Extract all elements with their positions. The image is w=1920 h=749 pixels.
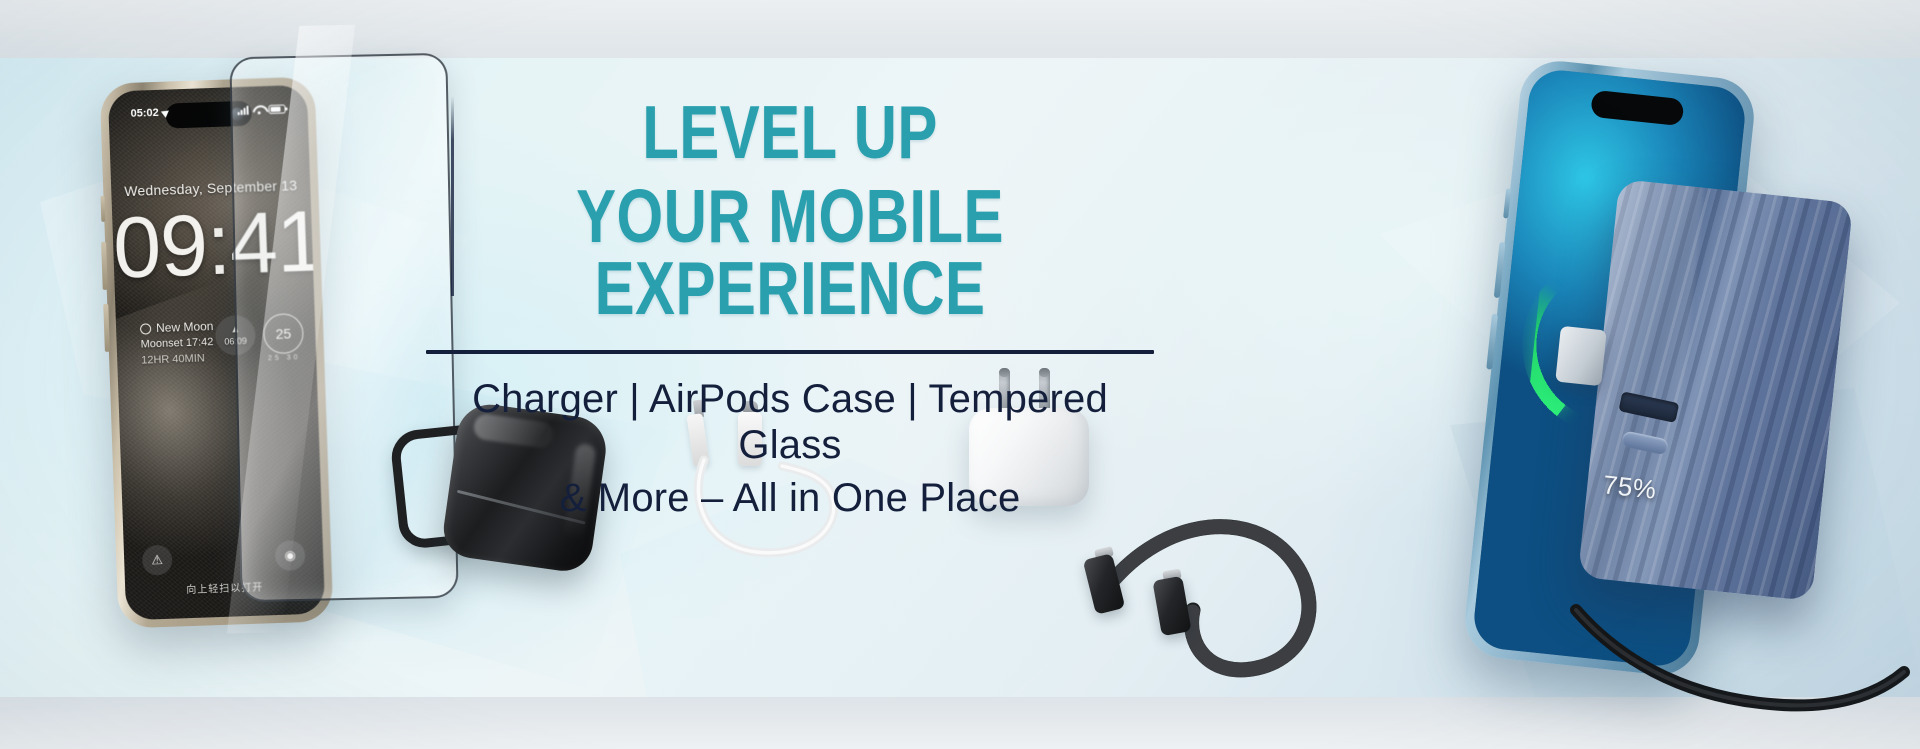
dynamic-island [1590, 90, 1684, 126]
location-arrow-icon [161, 107, 171, 118]
headline-line-2: YOUR MOBILE EXPERIENCE [494, 180, 1086, 324]
charging-cable [1560, 600, 1920, 749]
moon-widget-duration: 12HR 40MIN [141, 351, 215, 369]
subtitle-line-1: Charger | AirPods Case | Tempered Glass [420, 376, 1160, 469]
subtitle-line-2: & More – All in One Place [420, 475, 1160, 521]
mute-button [100, 196, 105, 222]
status-time: 05:02 [130, 107, 159, 120]
status-bar-left: 05:02 [130, 106, 170, 119]
headline: LEVEL UP YOUR MOBILE EXPERIENCE [420, 96, 1160, 324]
volume-up-button [1494, 242, 1506, 298]
moon-widget-title: New Moon [156, 318, 214, 337]
mute-button [1503, 188, 1511, 218]
power-bank-device [1578, 179, 1854, 601]
subtitle: Charger | AirPods Case | Tempered Glass … [420, 376, 1160, 521]
moon-phase-icon [140, 323, 151, 334]
banner-text-block: LEVEL UP YOUR MOBILE EXPERIENCE Charger … [420, 96, 1160, 521]
battery-percentage-label: 75% [1602, 469, 1658, 505]
headline-rule [426, 350, 1154, 354]
left-product-group: 05:02 Wednesday, September 13 09:41 New … [95, 55, 445, 645]
promo-banner: 05:02 Wednesday, September 13 09:41 New … [0, 0, 1920, 749]
volume-down-button [1486, 313, 1498, 369]
power-bank-connector [1555, 326, 1607, 387]
volume-up-button [101, 242, 108, 290]
banner-top-band [0, 0, 1920, 60]
moon-widget[interactable]: New Moon Moonset 17:42 12HR 40MIN [140, 318, 215, 369]
volume-down-button [103, 304, 110, 352]
headline-line-1: LEVEL UP [494, 96, 1086, 168]
